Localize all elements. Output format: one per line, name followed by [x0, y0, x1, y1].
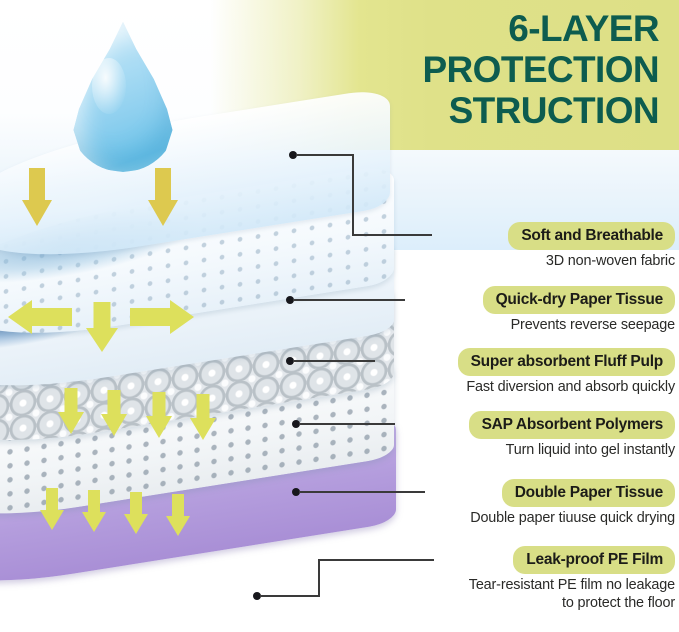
arrow-down-icon [166, 494, 190, 536]
callout-item-soft-and-breathable[interactable]: Soft and Breathable 3D non-woven fabric [508, 222, 675, 271]
leader-segment [318, 559, 320, 596]
arrow-down-icon [124, 492, 148, 534]
callout-item-super-absorbent-fluff-pulp[interactable]: Super absorbent Fluff Pulp Fast diversio… [458, 348, 675, 397]
callout-title: Soft and Breathable [508, 222, 675, 250]
infographic-canvas: 6-LAYER PROTECTION STRUCTION [0, 0, 679, 632]
callout-description: Turn liquid into gel instantly [469, 442, 675, 460]
arrow-down-icon [40, 488, 64, 530]
callout-description: Prevents reverse seepage [483, 317, 675, 335]
arrow-left-icon [8, 300, 72, 334]
arrow-down-icon [58, 388, 84, 434]
callout-item-leak-proof-pe-film[interactable]: Leak-proof PE Film Tear-resistant PE fil… [469, 546, 675, 612]
callout-item-sap-absorbent-polymers[interactable]: SAP Absorbent Polymers Turn liquid into … [469, 411, 675, 460]
callout-description: Double paper tiuuse quick drying [470, 510, 675, 528]
leader-segment [260, 595, 320, 597]
arrow-right-icon [130, 300, 194, 334]
layer-stack-illustration [0, 120, 390, 632]
callout-list: Soft and Breathable 3D non-woven fabric … [352, 0, 679, 632]
callout-description: Tear-resistant PE film no leakage to pro… [469, 577, 675, 612]
callout-title: Super absorbent Fluff Pulp [458, 348, 675, 376]
callout-item-quick-dry-paper-tissue[interactable]: Quick-dry Paper Tissue Prevents reverse … [483, 286, 675, 335]
arrow-down-icon [146, 392, 172, 438]
arrow-down-icon [22, 168, 52, 226]
callout-title: Quick-dry Paper Tissue [483, 286, 675, 314]
callout-description: 3D non-woven fabric [508, 253, 675, 271]
arrow-down-icon [101, 390, 127, 436]
leader-segment [296, 154, 354, 156]
arrow-down-icon [86, 302, 118, 352]
arrow-down-icon [148, 168, 178, 226]
callout-title: Leak-proof PE Film [513, 546, 675, 574]
callout-title: Double Paper Tissue [502, 479, 675, 507]
droplet-highlight [92, 58, 126, 114]
callout-item-double-paper-tissue[interactable]: Double Paper Tissue Double paper tiuuse … [470, 479, 675, 528]
callout-title: SAP Absorbent Polymers [469, 411, 675, 439]
arrow-down-icon [190, 394, 216, 440]
callout-description: Fast diversion and absorb quickly [458, 379, 675, 397]
arrow-down-icon [82, 490, 106, 532]
